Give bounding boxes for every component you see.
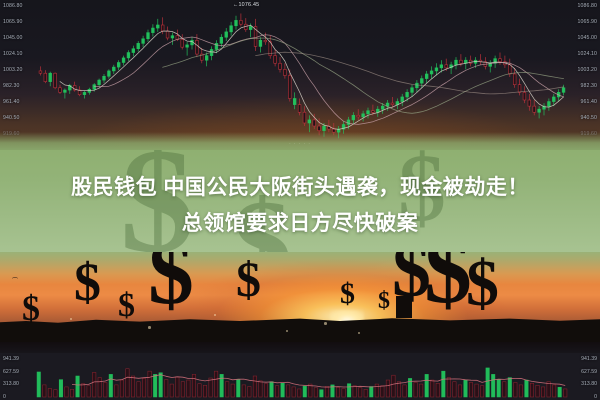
- headline-line-2: 总领馆要求日方尽快破案: [182, 207, 419, 237]
- volume-axis-label: 313.80: [3, 381, 19, 387]
- volume-axis-label: 0: [3, 394, 6, 400]
- price-axis-label: 1065.90: [578, 19, 597, 25]
- panel-divider: [0, 342, 600, 353]
- price-axis-label: 1045.00: [578, 35, 597, 41]
- dollar-silhouette-icon: $: [466, 254, 499, 315]
- bokeh-particle: [286, 330, 288, 332]
- sunset-photo-band: ︵ $ $ $ $ $ $ $ $ $ $ 视觉中国: [0, 252, 600, 342]
- bokeh-particle: [214, 314, 216, 316]
- price-axis-label: 1086.80: [578, 3, 597, 9]
- dollar-silhouette-icon: $: [340, 280, 355, 308]
- price-axis-label: 1024.10: [3, 51, 22, 57]
- price-axis-label: 1045.00: [3, 35, 22, 41]
- price-axis-label: 940.50: [581, 115, 597, 121]
- price-axis-label: 1024.10: [578, 51, 597, 57]
- volume-axis-label: 941.39: [3, 356, 19, 362]
- dollar-silhouette-icon: $: [236, 256, 261, 302]
- volume-axis-label: 0: [594, 394, 597, 400]
- bokeh-particle: [324, 322, 327, 325]
- price-axis-label: 1003.20: [3, 67, 22, 73]
- price-axis-label: 1003.20: [578, 67, 597, 73]
- price-axis-label: 1065.90: [3, 19, 22, 25]
- time-axis-ticks: · · · · ·: [0, 141, 600, 146]
- dollar-silhouette-icon: $: [424, 252, 472, 314]
- price-axis-label: 961.40: [3, 99, 19, 105]
- price-axis-label: 961.40: [581, 99, 597, 105]
- bokeh-particle: [358, 332, 360, 334]
- price-chart-panel: ←1076.45 · · · · · 1086.801086.801065.90…: [0, 0, 600, 152]
- dollar-silhouette-icon: $: [378, 290, 390, 312]
- block-silhouette: [396, 296, 412, 318]
- dollar-silhouette-icon: $: [22, 292, 40, 325]
- price-axis-label: 940.50: [3, 115, 19, 121]
- price-axis-label: 1086.80: [3, 3, 22, 9]
- volume-axis-label: 627.59: [3, 369, 19, 375]
- price-axis-label: 919.60: [3, 131, 19, 137]
- volume-axis-label: 313.80: [581, 381, 597, 387]
- bokeh-particle: [148, 326, 151, 329]
- volume-chart-panel: 941.39941.39627.59627.59313.80313.8000: [0, 353, 600, 400]
- volume-chart-plot: [0, 353, 600, 400]
- dollar-silhouette-icon: $: [148, 252, 194, 315]
- dollar-silhouette-icon: $: [74, 258, 101, 308]
- dollar-silhouette-icon: $: [118, 290, 135, 321]
- headline-band: $ $ $ 股民钱包 中国公民大阪街头遇袭，现金被劫走！ 总领馆要求日方尽快破案: [0, 150, 600, 258]
- bokeh-particle: [70, 318, 72, 320]
- price-axis-label: 982.30: [581, 83, 597, 89]
- bird-silhouette-icon: ︵: [12, 274, 20, 279]
- volume-axis-label: 627.59: [581, 369, 597, 375]
- price-chart-plot: [0, 0, 600, 152]
- price-axis-label: 982.30: [3, 83, 19, 89]
- price-peak-annotation: ←1076.45: [233, 2, 259, 8]
- headline-line-1: 股民钱包 中国公民大阪街头遇袭，现金被劫走！: [71, 171, 529, 201]
- news-card-image: ←1076.45 · · · · · 1086.801086.801065.90…: [0, 0, 600, 400]
- price-axis-label: 919.60: [581, 131, 597, 137]
- volume-axis-label: 941.39: [581, 356, 597, 362]
